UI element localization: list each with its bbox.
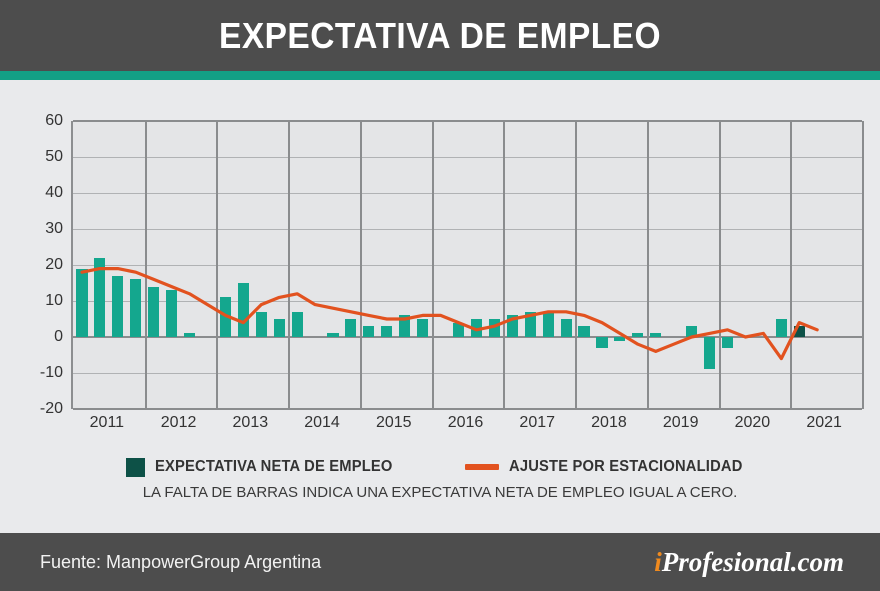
y-tick-label-30: 30	[45, 220, 63, 238]
legend-swatch-line-icon	[465, 464, 499, 470]
x-tick-label-2012: 2012	[161, 414, 197, 432]
x-axis-labels: 2011201220132014201520162017201820192020…	[71, 414, 860, 444]
legend-swatch-bar-icon	[126, 458, 145, 477]
bar-2015-Q4	[417, 319, 428, 337]
x-tick-label-2018: 2018	[591, 414, 627, 432]
bar-2020-Q4	[776, 319, 787, 337]
y-tick-label-10: 10	[45, 292, 63, 310]
y-tick-label--10: -10	[40, 364, 63, 382]
bar-2018-Q4	[632, 333, 643, 337]
bar-2012-Q2	[166, 290, 177, 337]
y-tick-label-50: 50	[45, 148, 63, 166]
logo-i-letter: i	[654, 547, 662, 578]
bar-2014-Q3	[327, 333, 338, 337]
footer-bar: Fuente: ManpowerGroup Argentina iProfesi…	[0, 533, 880, 591]
bar-2011-Q4	[130, 279, 141, 337]
y-tick-label--20: -20	[40, 400, 63, 418]
x-tick-label-2020: 2020	[735, 414, 771, 432]
bar-2015-Q2	[381, 326, 392, 337]
bar-2020-Q1	[722, 337, 733, 348]
bar-2016-Q4	[489, 319, 500, 337]
bar-2018-Q1	[578, 326, 589, 337]
chart-panel: -20-100102030405060 20112012201320142015…	[11, 92, 869, 519]
bar-2018-Q3	[614, 337, 625, 341]
header-accent-rule	[0, 71, 880, 80]
y-tick-label-60: 60	[45, 112, 63, 130]
gridline-x-11	[862, 121, 864, 409]
bar-series	[73, 121, 862, 409]
bar-2019-Q3	[686, 326, 697, 337]
bar-2019-Q1	[650, 333, 661, 337]
bar-2017-Q1	[507, 315, 518, 337]
bar-2016-Q3	[471, 319, 482, 337]
bar-2016-Q2	[453, 323, 464, 337]
bar-2019-Q4	[704, 337, 715, 369]
bar-2013-Q4	[274, 319, 285, 337]
header-bar: EXPECTATIVA DE EMPLEO	[0, 0, 880, 71]
bar-2015-Q3	[399, 315, 410, 337]
y-axis-labels: -20-100102030405060	[11, 92, 67, 438]
bar-2012-Q3	[184, 333, 195, 337]
bar-2017-Q3	[543, 312, 554, 337]
plot-area	[71, 121, 863, 409]
x-tick-label-2016: 2016	[448, 414, 484, 432]
bar-2017-Q4	[561, 319, 572, 337]
page-title: EXPECTATIVA DE EMPLEO	[31, 0, 849, 71]
infographic-root: EXPECTATIVA DE EMPLEO -20-10010203040506…	[0, 0, 880, 591]
x-tick-label-2013: 2013	[233, 414, 269, 432]
bar-2015-Q1	[363, 326, 374, 337]
y-tick-label-20: 20	[45, 256, 63, 274]
y-tick-label-40: 40	[45, 184, 63, 202]
bar-2011-Q2	[94, 258, 105, 337]
legend-note: LA FALTA DE BARRAS INDICA UNA EXPECTATIV…	[11, 484, 869, 501]
x-tick-label-2017: 2017	[519, 414, 555, 432]
bar-2017-Q2	[525, 312, 536, 337]
x-tick-label-2019: 2019	[663, 414, 699, 432]
bar-2014-Q1	[292, 312, 303, 337]
bar-2012-Q1	[148, 287, 159, 337]
x-tick-label-2021: 2021	[806, 414, 842, 432]
footer-source: Fuente: ManpowerGroup Argentina	[40, 533, 321, 591]
chart-legend: EXPECTATIVA NETA DE EMPLEO AJUSTE POR ES…	[11, 452, 869, 482]
bar-2011-Q3	[112, 276, 123, 337]
legend-label-bars: EXPECTATIVA NETA DE EMPLEO	[155, 458, 393, 476]
bar-2014-Q4	[345, 319, 356, 337]
bar-2011-Q1	[76, 269, 87, 337]
bar-2013-Q3	[256, 312, 267, 337]
x-tick-label-2015: 2015	[376, 414, 412, 432]
site-logo[interactable]: iProfesional.com	[654, 533, 844, 591]
bar-2013-Q2	[238, 283, 249, 337]
bar-2013-Q1	[220, 297, 231, 337]
y-tick-label-0: 0	[54, 328, 63, 346]
x-tick-label-2014: 2014	[304, 414, 340, 432]
bar-2018-Q2	[596, 337, 607, 348]
bar-2021-Q1	[794, 326, 805, 337]
legend-item-line: AJUSTE POR ESTACIONALIDAD	[465, 458, 755, 476]
legend-label-line: AJUSTE POR ESTACIONALIDAD	[509, 458, 743, 476]
x-tick-label-2011: 2011	[90, 414, 124, 432]
logo-text: Profesional.com	[662, 547, 844, 578]
legend-item-bars: EXPECTATIVA NETA DE EMPLEO	[126, 458, 405, 477]
